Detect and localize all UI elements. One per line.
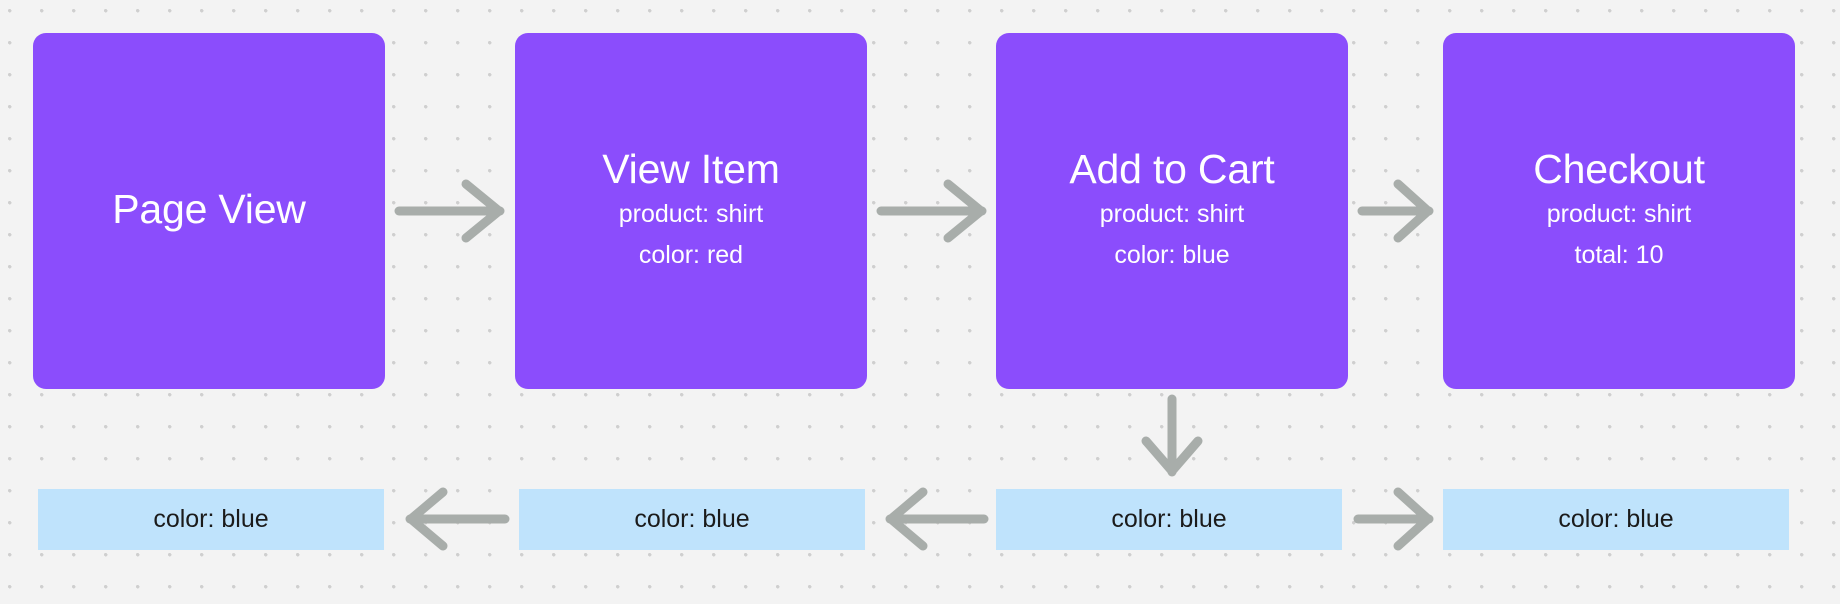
event-node-property: color: blue: [1114, 235, 1229, 276]
property-node-label: color: blue: [1558, 507, 1673, 532]
flow-canvas[interactable]: Page View View Item product: shirt color…: [0, 0, 1840, 604]
connector-property-node-2-to-property-node-1: [410, 492, 505, 546]
property-node-label: color: blue: [1111, 507, 1226, 532]
property-node-3[interactable]: color: blue: [996, 489, 1342, 550]
event-node-property: product: shirt: [1547, 194, 1692, 235]
event-node-properties: product: shirt color: blue: [1100, 194, 1245, 275]
property-node-4[interactable]: color: blue: [1443, 489, 1789, 550]
event-node-property: total: 10: [1575, 235, 1664, 276]
connector-add-to-cart-to-checkout: [1362, 184, 1429, 238]
event-node-property: color: red: [639, 235, 743, 276]
event-node-add-to-cart[interactable]: Add to Cart product: shirt color: blue: [996, 33, 1348, 389]
event-node-checkout[interactable]: Checkout product: shirt total: 10: [1443, 33, 1795, 389]
event-node-view-item[interactable]: View Item product: shirt color: red: [515, 33, 867, 389]
event-node-property: product: shirt: [619, 194, 764, 235]
connector-property-node-3-to-property-node-2: [890, 492, 984, 546]
event-node-properties: product: shirt total: 10: [1547, 194, 1692, 275]
connector-page-view-to-view-item: [399, 184, 500, 238]
connector-view-item-to-add-to-cart: [881, 184, 982, 238]
event-node-title: Page View: [112, 187, 305, 233]
event-node-title: View Item: [602, 147, 779, 193]
property-node-1[interactable]: color: blue: [38, 489, 384, 550]
connector-property-node-3-to-property-node-4: [1358, 492, 1429, 546]
property-node-label: color: blue: [153, 507, 268, 532]
connector-add-to-cart-to-property-node-3: [1146, 399, 1198, 472]
event-node-properties: product: shirt color: red: [619, 194, 764, 275]
property-node-2[interactable]: color: blue: [519, 489, 865, 550]
event-node-page-view[interactable]: Page View: [33, 33, 385, 389]
event-node-title: Add to Cart: [1069, 147, 1274, 193]
property-node-label: color: blue: [634, 507, 749, 532]
event-node-title: Checkout: [1533, 147, 1705, 193]
event-node-property: product: shirt: [1100, 194, 1245, 235]
